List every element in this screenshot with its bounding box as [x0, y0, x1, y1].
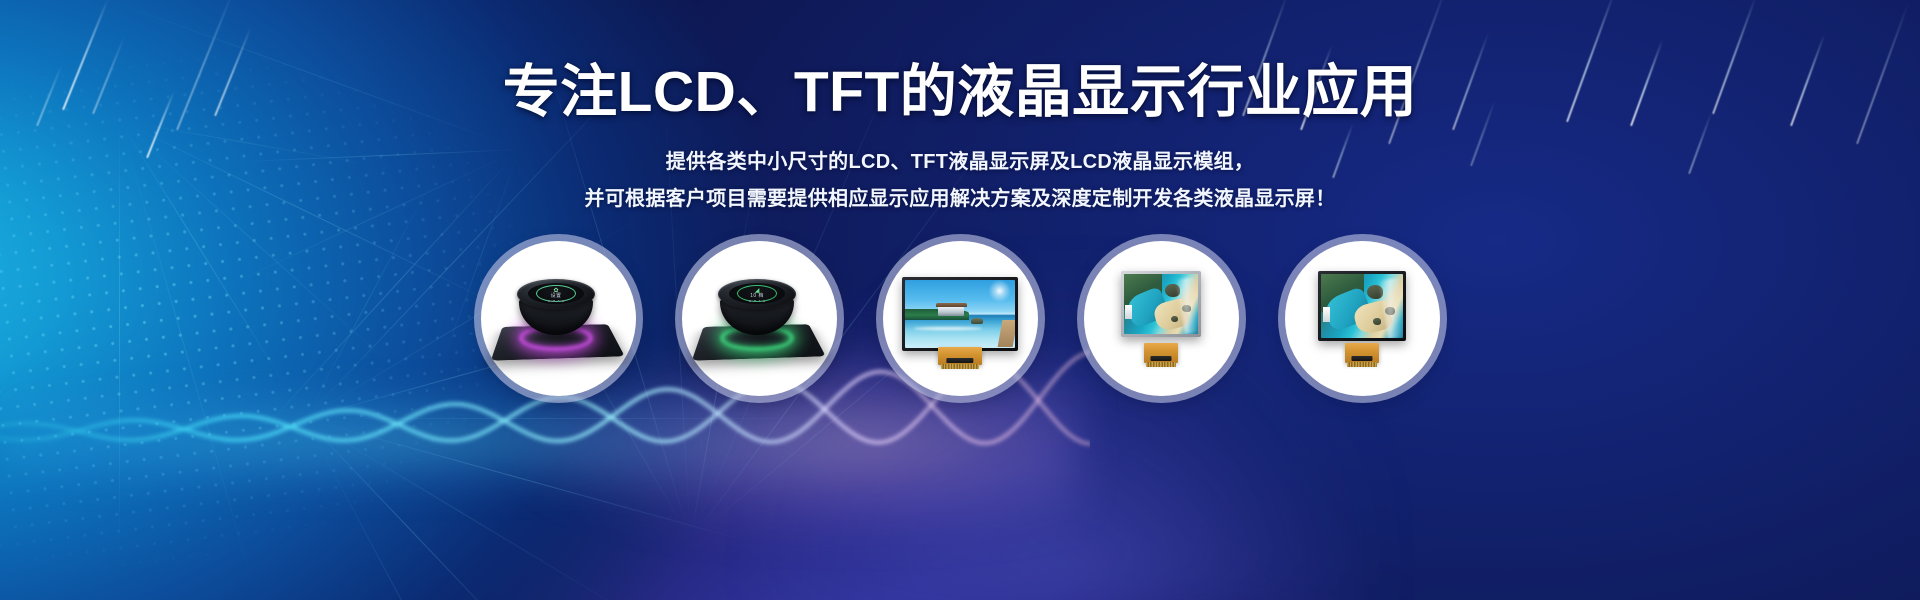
lcd-panel [1121, 271, 1201, 337]
square-lcd-image [1095, 253, 1227, 385]
product-showcase-row: ✿ 设置 ◢ 10 档 [0, 241, 1920, 396]
driver-ic-chip [1150, 356, 1171, 361]
banner-text-block: 专注LCD、TFT的液晶显示行业应用 提供各类中小尺寸的LCD、TFT液晶显示屏… [0, 62, 1920, 217]
lcd-panel [902, 277, 1018, 351]
fpc-ribbon-cable [1345, 343, 1379, 363]
driver-ic-chip [946, 358, 973, 363]
square-lcd-large-image [1296, 253, 1428, 385]
panel-bezel [902, 277, 1018, 351]
fpc-ribbon-cable [938, 347, 982, 365]
driver-ic-chip [1351, 356, 1372, 361]
display-image-coast-scene [1124, 274, 1198, 334]
product-circle-1[interactable]: ✿ 设置 [481, 241, 636, 396]
banner-subtitle-line-2: 并可根据客户项目需要提供相应显示应用解决方案及深度定制开发各类液晶显示屏！ [0, 181, 1920, 217]
product-circle-4[interactable] [1084, 241, 1239, 396]
lcd-panel [1318, 271, 1406, 341]
fpc-connector-pins [1347, 362, 1377, 367]
display-indicator-dots [729, 300, 785, 302]
smart-puck-green-image: ◢ 10 档 [693, 253, 825, 385]
lcd-display-area [1321, 274, 1403, 338]
scene-rock [971, 318, 983, 324]
widescreen-lcd-image [894, 253, 1026, 385]
product-circle-5[interactable] [1285, 241, 1440, 396]
product-circle-3[interactable] [883, 241, 1038, 396]
banner-subtitle-line-1: 提供各类中小尺寸的LCD、TFT液晶显示屏及LCD液晶显示模组， [0, 144, 1920, 180]
display-image-pool-scene [905, 280, 1015, 348]
smart-puck-purple-image: ✿ 设置 [492, 253, 624, 385]
scene-foam [914, 327, 982, 330]
scene-deck [997, 320, 1015, 347]
hero-banner: 专注LCD、TFT的液晶显示行业应用 提供各类中小尺寸的LCD、TFT液晶显示屏… [0, 0, 1920, 600]
banner-headline: 专注LCD、TFT的液晶显示行业应用 [0, 62, 1920, 122]
scene-building [1323, 307, 1330, 322]
scene-villa [938, 307, 964, 317]
scene-boulder [1171, 316, 1178, 322]
scene-building [1125, 305, 1132, 319]
device-circular-display: ◢ 10 档 [729, 283, 785, 304]
banner-subtitle: 提供各类中小尺寸的LCD、TFT液晶显示屏及LCD液晶显示模组， 并可根据客户项… [0, 144, 1920, 217]
display-indicator-dots [528, 300, 584, 302]
lcd-display-area [905, 280, 1015, 348]
scene-boulder [1373, 318, 1380, 324]
panel-bezel [1318, 271, 1406, 341]
fpc-connector-pins [941, 364, 980, 369]
panel-bezel [1121, 271, 1201, 337]
product-circle-2[interactable]: ◢ 10 档 [682, 241, 837, 396]
lcd-display-area [1124, 274, 1198, 334]
fpc-connector-pins [1146, 362, 1176, 367]
display-image-coast-scene [1321, 274, 1403, 338]
device-circular-display: ✿ 设置 [528, 283, 584, 304]
fpc-ribbon-cable [1144, 343, 1178, 363]
